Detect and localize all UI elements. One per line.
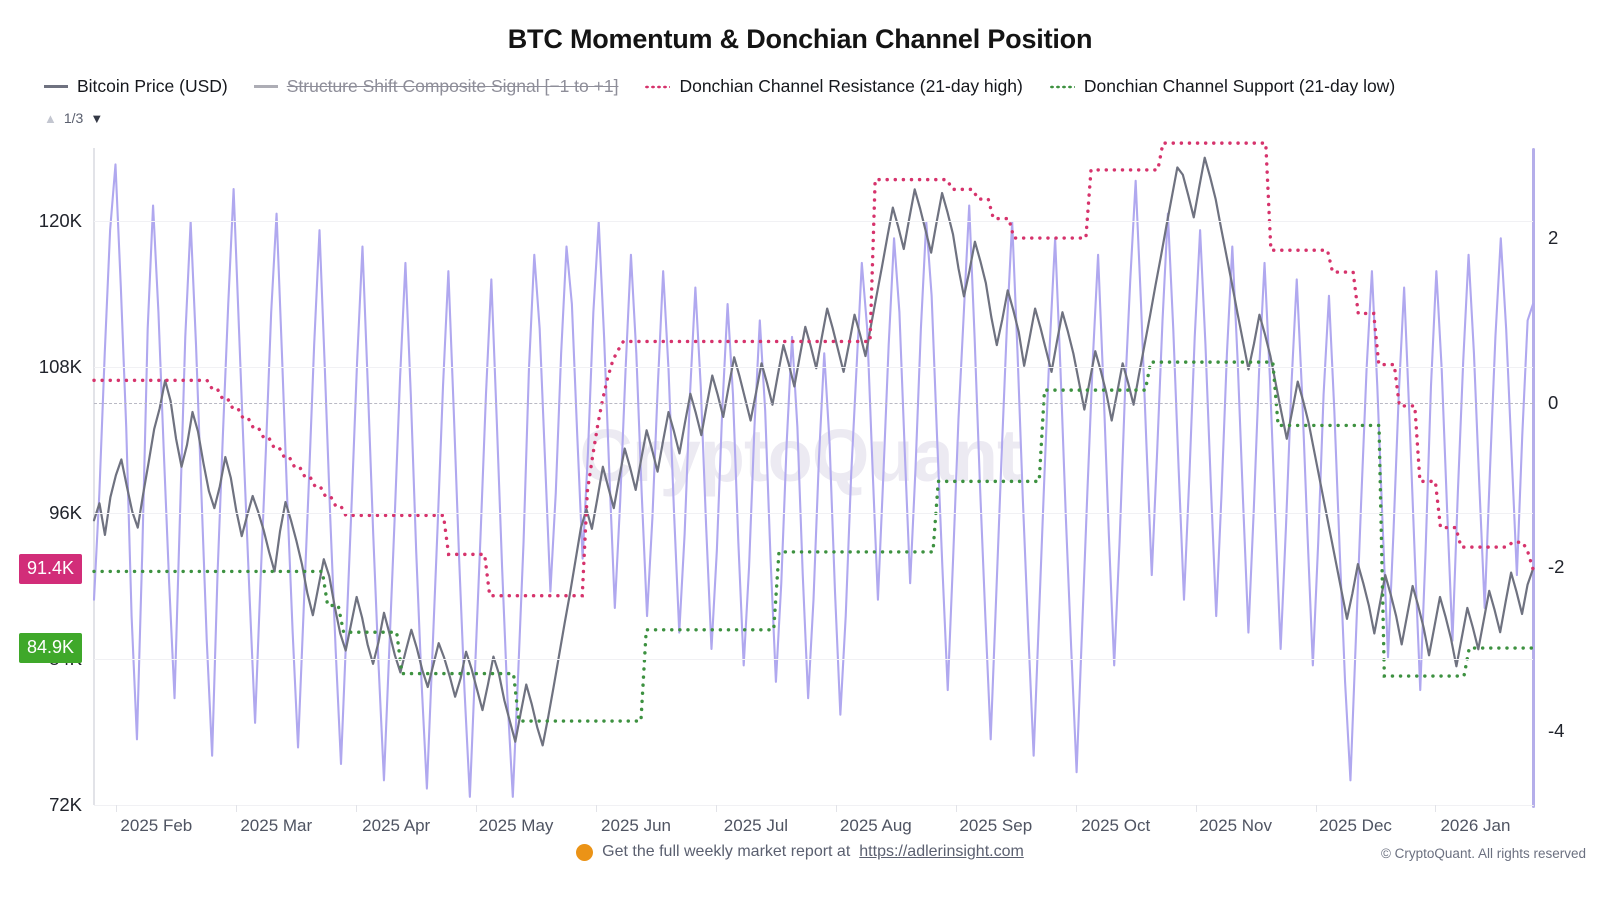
legend-bitcoin-price[interactable]: Bitcoin Price (USD) [44, 76, 228, 97]
legend-label-3: Donchian Channel Resistance (21-day high… [679, 76, 1022, 97]
chart-container: CryptoQuant BTC Momentum & Donchian Chan… [0, 0, 1600, 900]
series-canvas [94, 148, 1533, 805]
zero-reference-line [94, 403, 1533, 404]
x-tick-label-11: 2026 Jan [1440, 816, 1510, 836]
footer-note-text: Get the full weekly market report at [602, 843, 850, 861]
y-tick-label-4: 120K [39, 210, 82, 232]
legend-pager[interactable]: ▲ 1/3 ▼ [44, 110, 103, 126]
series-path-1 [94, 164, 1533, 796]
x-tick-label-3: 2025 May [479, 816, 554, 836]
x-tick-label-10: 2025 Dec [1319, 816, 1392, 836]
legend-swatch-2 [254, 85, 278, 88]
page-title: BTC Momentum & Donchian Channel Position [0, 24, 1600, 55]
x-tick-3 [476, 805, 477, 812]
gridline-y-4 [94, 221, 1533, 222]
pager-up-icon[interactable]: ▲ [44, 112, 57, 125]
gridline-y-0 [94, 805, 1533, 806]
support-badge: 84.9K [19, 633, 82, 663]
plot-area[interactable] [94, 148, 1533, 805]
series-path-2 [94, 143, 1533, 596]
x-tick-0 [116, 805, 117, 812]
chart-legend: Bitcoin Price (USD)Structure Shift Compo… [44, 76, 1395, 97]
gridline-y-1 [94, 659, 1533, 660]
x-tick-label-8: 2025 Oct [1081, 816, 1150, 836]
legend-label-2: Structure Shift Composite Signal [−1 to … [287, 76, 619, 97]
x-tick-4 [596, 805, 597, 812]
price-badge: 91.4K [19, 554, 82, 584]
y2-tick-label-1: -2 [1548, 556, 1564, 578]
gridline-y-3 [94, 367, 1533, 368]
legend-donchian-support[interactable]: Donchian Channel Support (21-day low) [1049, 76, 1395, 97]
y-tick-label-2: 96K [49, 502, 82, 524]
gridline-y-2 [94, 513, 1533, 514]
legend-label-1: Bitcoin Price (USD) [77, 76, 228, 97]
series-path-3 [94, 362, 1533, 721]
x-tick-5 [716, 805, 717, 812]
x-tick-6 [836, 805, 837, 812]
pager-down-icon[interactable]: ▼ [90, 112, 103, 125]
legend-label-4: Donchian Channel Support (21-day low) [1084, 76, 1395, 97]
y-tick-label-3: 108K [39, 356, 82, 378]
x-tick-label-5: 2025 Jul [724, 816, 788, 836]
x-tick-label-9: 2025 Nov [1199, 816, 1272, 836]
x-tick-label-0: 2025 Feb [120, 816, 192, 836]
legend-swatch-4 [1049, 85, 1075, 89]
x-tick-label-1: 2025 Mar [240, 816, 312, 836]
x-tick-1 [236, 805, 237, 812]
x-tick-11 [1435, 805, 1436, 812]
x-tick-9 [1196, 805, 1197, 812]
y2-tick-label-3: 2 [1548, 227, 1558, 249]
x-tick-label-7: 2025 Sep [959, 816, 1032, 836]
legend-swatch-3 [644, 85, 670, 89]
x-tick-7 [956, 805, 957, 812]
copyright-text: © CryptoQuant. All rights reserved [1381, 846, 1586, 861]
x-tick-10 [1316, 805, 1317, 812]
legend-structure-shift[interactable]: Structure Shift Composite Signal [−1 to … [254, 76, 619, 97]
x-tick-2 [356, 805, 357, 812]
orange-dot-icon [576, 844, 593, 861]
x-tick-label-4: 2025 Jun [601, 816, 671, 836]
legend-donchian-resistance[interactable]: Donchian Channel Resistance (21-day high… [644, 76, 1022, 97]
footer-note: Get the full weekly market report at htt… [0, 843, 1600, 861]
x-tick-label-2: 2025 Apr [362, 816, 430, 836]
x-tick-label-6: 2025 Aug [840, 816, 912, 836]
footer-report-link[interactable]: https://adlerinsight.com [859, 843, 1024, 861]
legend-swatch-1 [44, 85, 68, 88]
y-tick-label-0: 72K [49, 794, 82, 816]
y2-tick-label-0: -4 [1548, 720, 1564, 742]
y2-tick-label-2: 0 [1548, 392, 1558, 414]
x-tick-8 [1076, 805, 1077, 812]
pager-count: 1/3 [64, 110, 83, 126]
